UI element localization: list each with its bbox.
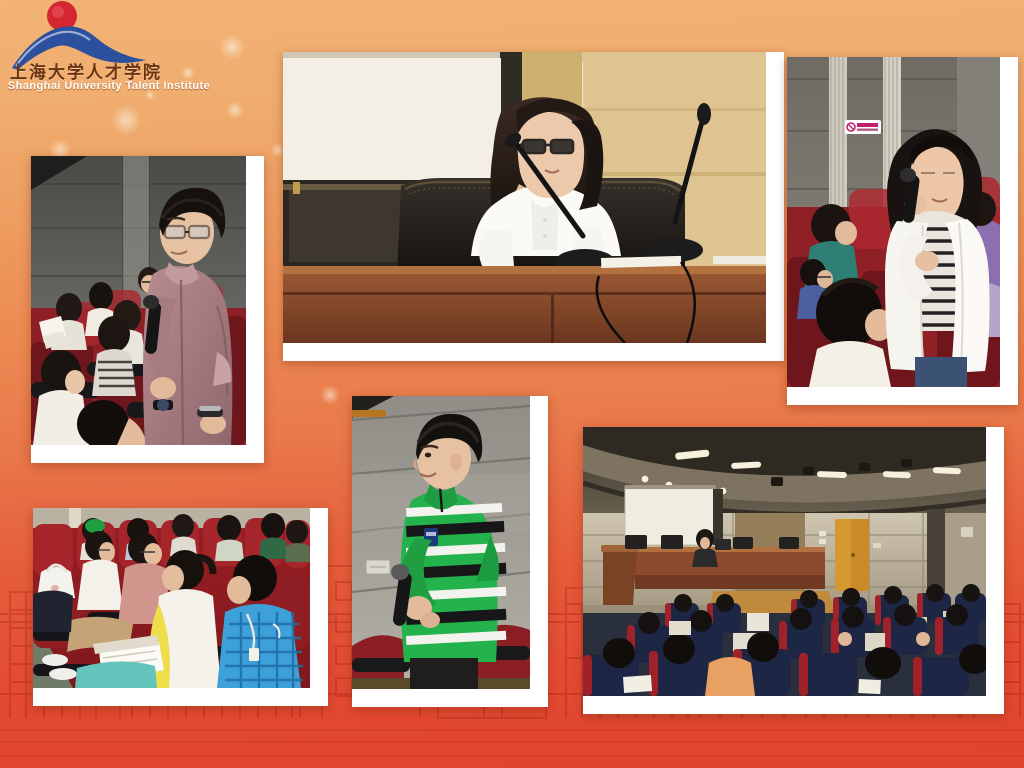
bokeh-circle <box>145 90 155 100</box>
photo-frame-seated-audience-close-up[interactable] <box>33 508 328 706</box>
collage-canvas: 上海大学人才学院 Shanghai University Talent Inst… <box>0 0 1024 768</box>
photo-female-student-with-microphone <box>787 57 1000 387</box>
bokeh-circle <box>226 101 244 119</box>
photo-frame-male-student-with-microphone[interactable] <box>31 156 264 463</box>
bokeh-circle <box>219 34 245 60</box>
photo-woman-speaking-at-podium <box>283 52 766 343</box>
institute-logo: 上海大学人才学院 Shanghai University Talent Inst… <box>2 0 212 100</box>
bokeh-circle <box>110 104 142 136</box>
photo-male-student-with-microphone <box>31 156 246 445</box>
wall-notice-sign <box>845 120 881 134</box>
logo-mark-icon <box>10 0 160 72</box>
logo-chinese-name: 上海大学人才学院 <box>10 58 206 83</box>
photo-lecture-hall-wide-shot <box>583 427 986 696</box>
bokeh-circle <box>320 385 340 405</box>
logo-english-name: Shanghai University Talent Institute <box>4 80 214 92</box>
photo-student-in-green-striped-polo <box>352 396 530 689</box>
photo-frame-student-in-green-striped-polo[interactable] <box>352 396 548 707</box>
photo-frame-female-student-with-microphone[interactable] <box>787 57 1018 405</box>
photo-seated-audience-close-up <box>33 508 310 688</box>
photo-frame-lecture-hall-wide-shot[interactable] <box>583 427 1004 714</box>
bokeh-circle <box>181 66 195 80</box>
photo-frame-woman-speaking-at-podium[interactable] <box>283 52 784 361</box>
